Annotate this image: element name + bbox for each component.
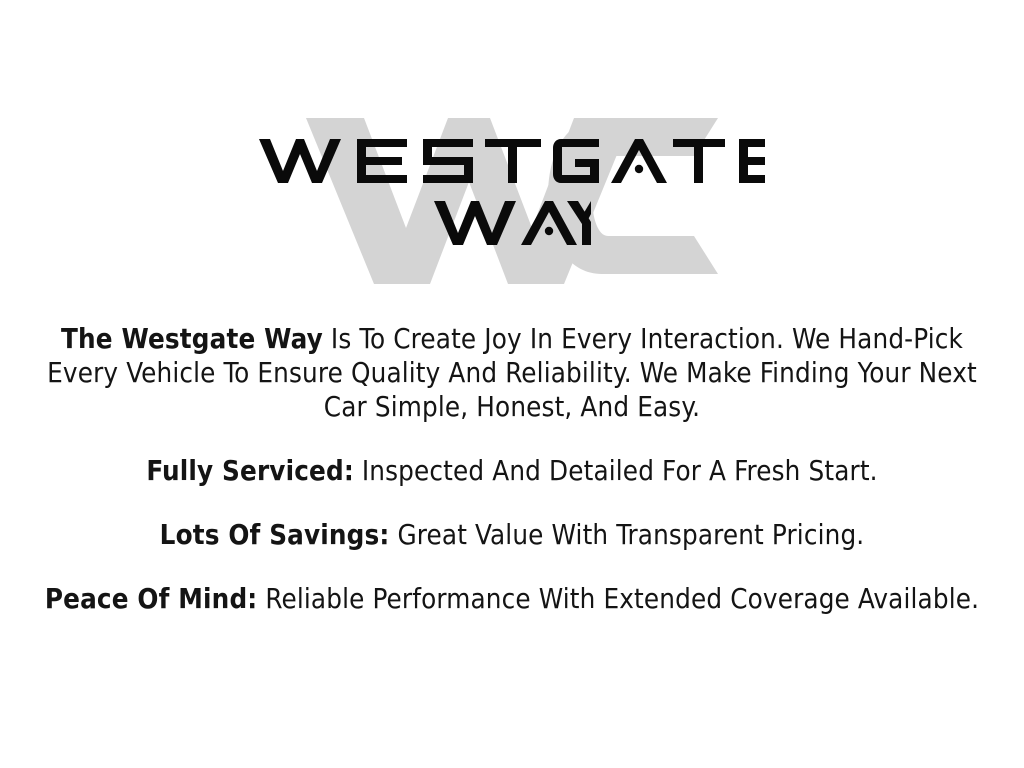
feature-peace-of-mind: Peace Of Mind: Reliable Performance With… (22, 582, 1002, 616)
feature-text-fully-serviced: Inspected And Detailed For A Fresh Start… (354, 455, 878, 487)
feature-text-peace-of-mind: Reliable Performance With Extended Cover… (257, 583, 979, 615)
wordmark-line-way (434, 200, 591, 246)
wordmark-line-westgate (259, 138, 765, 184)
brand-wordmark (0, 96, 1024, 296)
feature-label-peace-of-mind: Peace Of Mind: (45, 583, 257, 615)
spacer (0, 552, 1024, 582)
intro-lead-strong: The Westgate Way (61, 323, 323, 355)
brand-logo (0, 96, 1024, 296)
feature-fully-serviced: Fully Serviced: Inspected And Detailed F… (22, 454, 1002, 488)
westgate-way-slide: The Westgate Way Is To Create Joy In Eve… (0, 0, 1024, 768)
intro-paragraph: The Westgate Way Is To Create Joy In Eve… (37, 322, 987, 424)
body-copy: The Westgate Way Is To Create Joy In Eve… (0, 322, 1024, 616)
feature-label-fully-serviced: Fully Serviced: (146, 455, 354, 487)
feature-text-lots-of-savings: Great Value With Transparent Pricing. (389, 519, 864, 551)
spacer (0, 488, 1024, 518)
feature-label-lots-of-savings: Lots Of Savings: (160, 519, 390, 551)
spacer (0, 424, 1024, 454)
feature-lots-of-savings: Lots Of Savings: Great Value With Transp… (22, 518, 1002, 552)
